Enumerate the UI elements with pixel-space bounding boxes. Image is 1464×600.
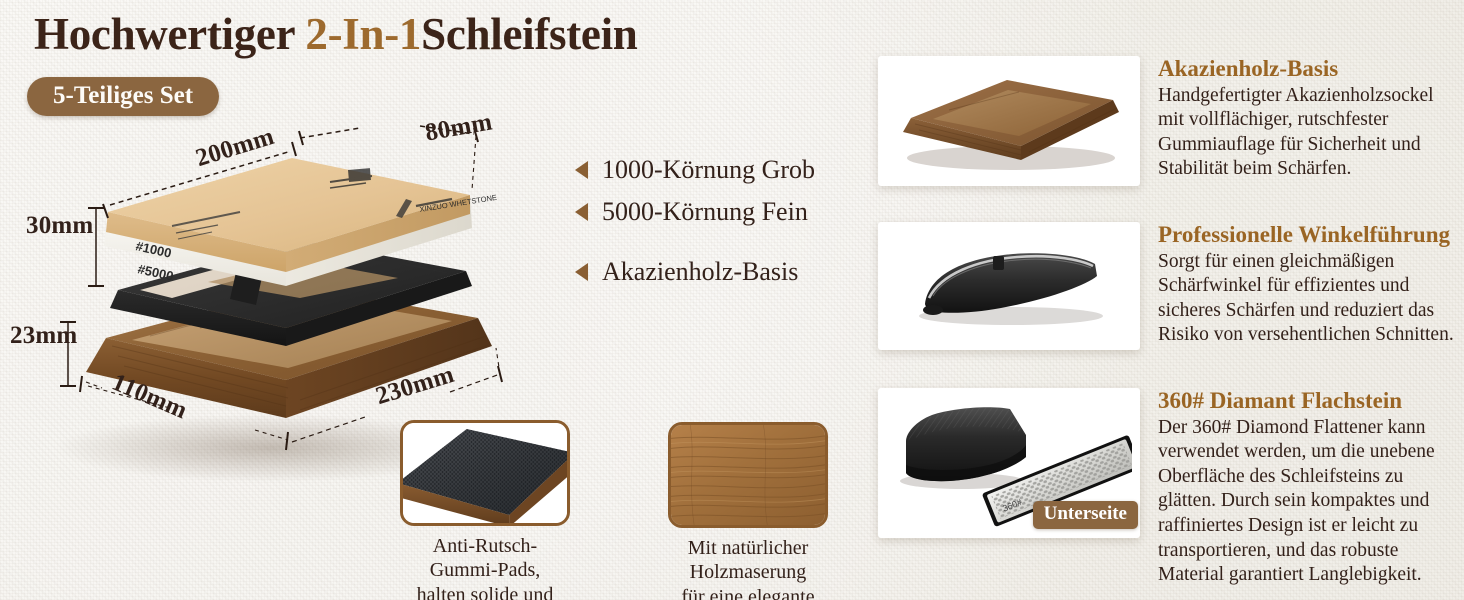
triangle-left-icon xyxy=(575,161,588,179)
callout-label: 1000-Körnung Grob xyxy=(602,155,815,185)
feature-acacia-base: Akazienholz-Basis Handgefertigter Akazie… xyxy=(878,56,1458,186)
panel-caption: Mit natürlicher Holzmaserung für eine el… xyxy=(668,536,828,600)
callout-item-base: Akazienholz-Basis xyxy=(575,257,815,287)
feature-heading: 360# Diamant Flachstein xyxy=(1158,388,1458,414)
set-count-badge: 5-Teiliges Set xyxy=(27,77,219,116)
angle-guide-photo xyxy=(889,230,1129,342)
caption-line-2: für eine elegante Ästhetik xyxy=(668,585,828,600)
dimension-label-stone-height: 30mm xyxy=(26,212,93,240)
triangle-left-icon xyxy=(575,263,588,281)
wood-grain-image xyxy=(671,425,825,525)
feature-heading: Professionelle Winkelführung xyxy=(1158,222,1458,248)
feature-text-block: 360# Diamant Flachstein Der 360# Diamond… xyxy=(1158,388,1458,588)
callout-item-coarse: 1000-Körnung Grob xyxy=(575,155,815,185)
feature-body: Sorgt für einen gleichmäßigen Schärfwink… xyxy=(1158,250,1458,348)
callout-item-fine: 5000-Körnung Fein xyxy=(575,197,815,227)
panel-image-frame xyxy=(400,420,570,526)
feature-text-block: Professionelle Winkelführung Sorgt für e… xyxy=(1158,222,1458,348)
unterseite-badge: Unterseite xyxy=(1033,501,1138,529)
panel-wood-grain: Mit natürlicher Holzmaserung für eine el… xyxy=(668,422,828,600)
feature-photo-card xyxy=(878,222,1140,350)
panel-anti-slip-pads: Anti-Rutsch-Gummi-Pads, halten solide un… xyxy=(400,420,570,600)
callout-label: Akazienholz-Basis xyxy=(602,257,798,287)
feature-photo-card: 360# Unterseite xyxy=(878,388,1140,538)
triangle-left-icon xyxy=(575,203,588,221)
feature-photo-card xyxy=(878,56,1140,186)
panel-image-frame xyxy=(668,422,828,528)
title-part-2: Schleifstein xyxy=(421,9,637,59)
title-part-1: Hochwertiger xyxy=(34,9,305,59)
feature-heading: Akazienholz-Basis xyxy=(1158,56,1458,82)
callout-list: 1000-Körnung Grob 5000-Körnung Fein Akaz… xyxy=(575,155,815,299)
feature-angle-guide: Professionelle Winkelführung Sorgt für e… xyxy=(878,222,1458,350)
callout-label: 5000-Körnung Fein xyxy=(602,197,808,227)
title-accent: 2-In-1 xyxy=(305,9,421,59)
caption-line-2: halten solide und rutschfest xyxy=(400,583,570,600)
panel-caption: Anti-Rutsch-Gummi-Pads, halten solide un… xyxy=(400,534,570,600)
caption-line-1: Mit natürlicher Holzmaserung xyxy=(668,536,828,585)
dimension-label-base-height: 23mm xyxy=(10,322,77,350)
infographic-page: Hochwertiger 2-In-1Schleifstein 5-Teilig… xyxy=(0,0,1464,600)
caption-line-1: Anti-Rutsch-Gummi-Pads, xyxy=(400,534,570,583)
acacia-base-photo xyxy=(889,62,1129,180)
feature-diamond-flattener: 360# Unterseite 360# Diamant Flachstein … xyxy=(878,388,1458,588)
feature-body: Handgefertigter Akazienholzsockel mit vo… xyxy=(1158,84,1458,182)
rubber-pad-image xyxy=(403,423,567,523)
page-title: Hochwertiger 2-In-1Schleifstein xyxy=(34,8,638,60)
feature-body: Der 360# Diamond Flattener kann verwende… xyxy=(1158,416,1458,588)
feature-text-block: Akazienholz-Basis Handgefertigter Akazie… xyxy=(1158,56,1458,182)
